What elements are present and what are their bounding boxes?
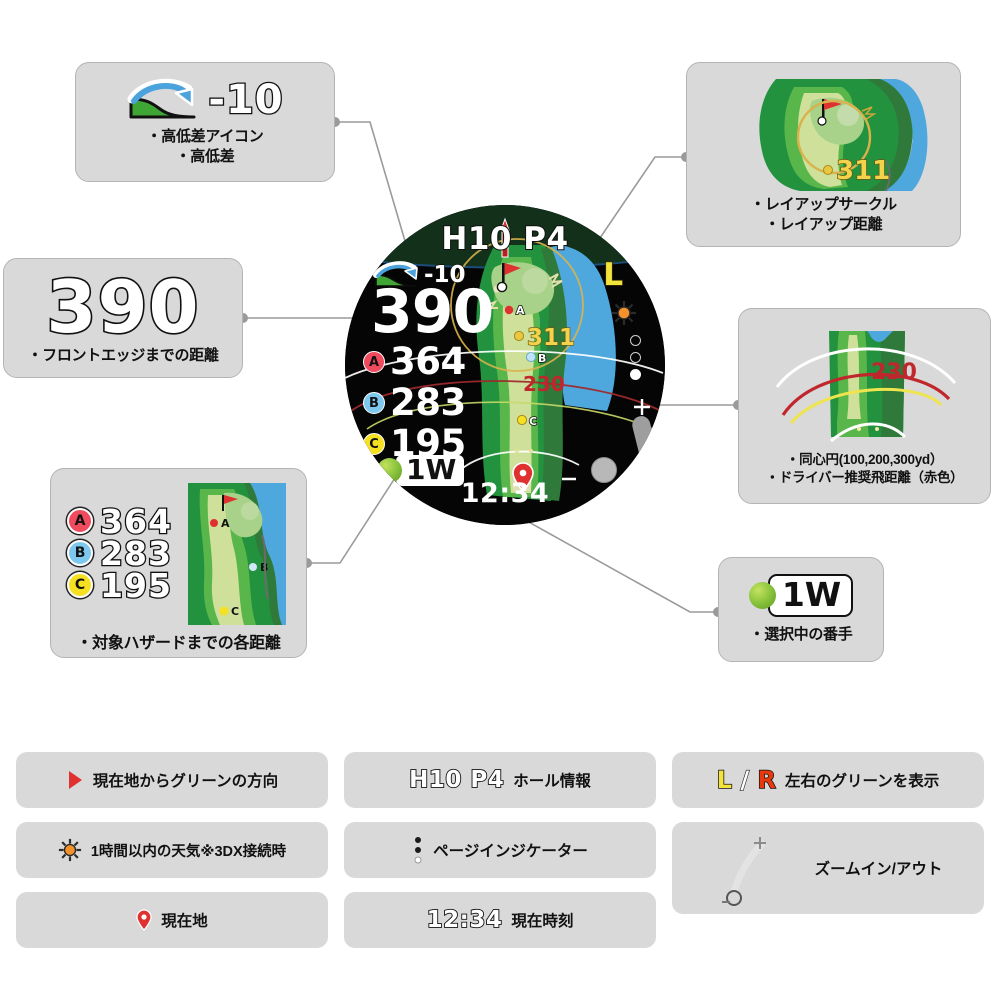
club-value: 1W: [768, 574, 853, 617]
driver-distance-on-map: 230: [871, 360, 917, 385]
green-direction-arrow-icon: [66, 769, 84, 791]
legend-label: 現在地: [161, 909, 208, 931]
current-time-icon: 12:34: [427, 907, 503, 933]
hazard-badge-a: A: [67, 508, 93, 534]
front-edge-distance: 390: [371, 283, 493, 341]
hazard-list: A 364 B 283 C 195: [59, 505, 172, 602]
page-dot-active[interactable]: [630, 369, 641, 380]
layup-caption-2: ・レイアップ距離: [765, 215, 883, 235]
hazard-badge-c: C: [67, 572, 93, 598]
legend-item-left-right-green: L / R 左右のグリーンを表示: [672, 752, 984, 808]
left-right-green-icon: L / R: [717, 766, 776, 794]
hazard-distance-a: 364: [390, 344, 466, 380]
page-dot[interactable]: [630, 335, 641, 346]
hazard-row: A 364: [67, 506, 172, 537]
elevation-icon: [126, 77, 202, 123]
golf-watch-screen[interactable]: A B C 311 230: [345, 205, 665, 525]
hazard-value-b: 283: [100, 538, 172, 569]
legend-label: ページインジケーター: [433, 839, 588, 861]
legend-item-hole-info: H10 P4 ホール情報: [344, 752, 656, 808]
svg-text:C: C: [529, 415, 537, 428]
callout-layup: 311 ・レイアップサークル ・レイアップ距離: [686, 62, 961, 247]
callout-hazards: A 364 B 283 C 195: [50, 468, 307, 658]
hazard-badge-b: B: [363, 392, 385, 414]
elevation-value: -10: [208, 77, 283, 123]
hazard-row: C 195: [67, 570, 172, 601]
page-root: -10 ・高低差アイコン ・高低差 390 ・フロントエッジまでの距離 A 36…: [0, 0, 1000, 1000]
layup-distance-label: 311: [527, 325, 575, 351]
hazard-badge-c: C: [363, 433, 385, 455]
weather-sun-icon: [58, 838, 82, 862]
hazard-minimap-icon: A B C: [178, 479, 298, 627]
elevation-caption-1: ・高低差アイコン: [147, 127, 264, 147]
golf-ball-icon: [749, 582, 776, 609]
hazard-distance-b: 283: [390, 385, 466, 421]
legend-label: 左右のグリーンを表示: [785, 769, 939, 791]
zoom-in-out-icon: [714, 828, 806, 908]
hazards-caption: ・対象ハザードまでの各距離: [76, 633, 280, 654]
club-caption: ・選択中の番手: [750, 625, 853, 645]
callout-rings: 230 ・同心円(100,200,300yd） ・ドライバー推奨飛距離（赤色）: [738, 308, 991, 504]
legend-item-zoom: ズームイン/アウト: [672, 822, 984, 914]
layup-caption-1: ・レイアップサークル: [750, 195, 897, 215]
front-edge-value: 390: [46, 270, 199, 344]
hazard-value-a: 364: [100, 506, 172, 537]
hole-title: H10 P4: [345, 221, 665, 257]
page-indicator[interactable]: [630, 335, 641, 380]
current-location-pin-icon: [136, 909, 152, 931]
page-dot[interactable]: [630, 352, 641, 363]
svg-text:C: C: [231, 605, 239, 618]
hazard-row-a: A 364: [363, 344, 466, 380]
hazard-badge-a: A: [363, 351, 385, 373]
legend-item-current-location: 現在地: [16, 892, 328, 948]
legend-grid: 現在地からグリーンの方向 H10 P4 ホール情報 L / R 左右のグリーンを…: [16, 752, 984, 948]
legend-item-current-time: 12:34 現在時刻: [344, 892, 656, 948]
zoom-in-icon[interactable]: [633, 398, 651, 416]
legend-label: ホール情報: [513, 769, 591, 791]
hazard-badge-b: B: [67, 540, 93, 566]
front-edge-caption: ・フロントエッジまでの距離: [27, 346, 218, 366]
weather-sun-icon: [611, 300, 637, 326]
svg-text:A: A: [516, 304, 525, 317]
elevation-caption-2: ・高低差: [176, 147, 235, 167]
legend-item-green-direction: 現在地からグリーンの方向: [16, 752, 328, 808]
green-side-indicator[interactable]: L: [603, 257, 623, 293]
legend-label: ズームイン/アウト: [815, 857, 943, 879]
zoom-out-icon[interactable]: [561, 473, 577, 485]
hazard-value-c: 195: [100, 570, 172, 601]
legend-item-page-indicator: ページインジケーター: [344, 822, 656, 878]
rings-caption-2: ・ドライバー推奨飛距離（赤色）: [766, 469, 964, 487]
callout-front-edge: 390 ・フロントエッジまでの距離: [3, 258, 243, 378]
hazard-row: B 283: [67, 538, 172, 569]
callout-elevation: -10 ・高低差アイコン ・高低差: [75, 62, 335, 182]
hole-info-icon: H10 P4: [409, 767, 504, 793]
legend-item-weather: 1時間以内の天気※3DX接続時: [16, 822, 328, 878]
concentric-rings-icon: 230: [753, 325, 977, 451]
svg-text:B: B: [538, 352, 546, 365]
layup-value-on-map: 311: [836, 156, 890, 186]
zoom-slider-knob[interactable]: [591, 457, 617, 483]
layup-minimap-icon: 311: [716, 75, 932, 195]
legend-label: 現在時刻: [511, 909, 573, 931]
selected-club[interactable]: 1W: [377, 455, 464, 486]
legend-label: 現在地からグリーンの方向: [93, 769, 278, 791]
legend-label: 1時間以内の天気※3DX接続時: [91, 840, 286, 861]
elevation-icon-row: -10: [126, 77, 283, 123]
hazard-row-b: B 283: [363, 385, 466, 421]
driver-distance-label: 230: [523, 372, 565, 396]
page-indicator-icon: [412, 835, 424, 865]
club-label: 1W: [396, 455, 464, 486]
golf-ball-icon: [377, 458, 402, 483]
svg-text:A: A: [221, 517, 230, 530]
callout-club: 1W ・選択中の番手: [718, 557, 884, 662]
rings-caption-1: ・同心円(100,200,300yd）: [786, 451, 943, 469]
